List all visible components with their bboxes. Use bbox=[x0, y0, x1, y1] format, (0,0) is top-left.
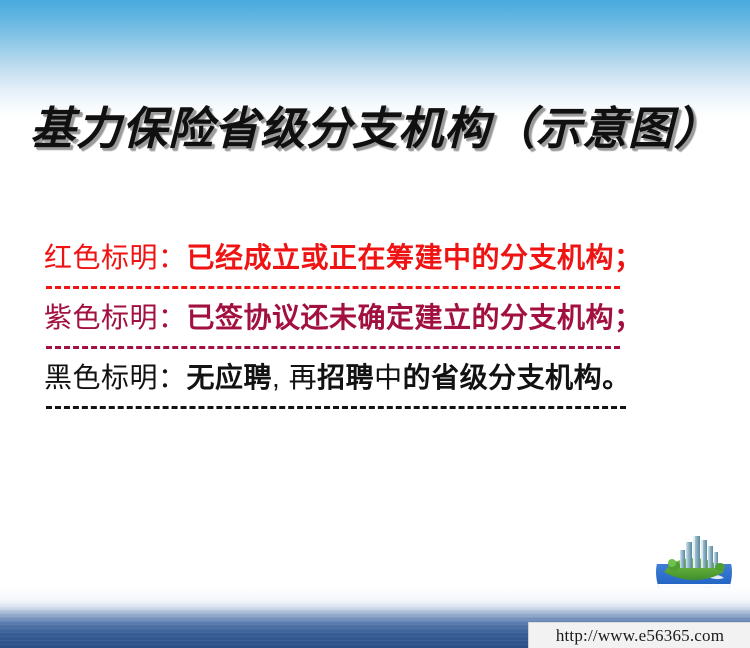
page-title: 基力保险省级分支机构（示意图） bbox=[0, 100, 750, 158]
legend-row-purple: 紫色标明：已签协议还未确定建立的分支机构； bbox=[44, 298, 704, 338]
legend-purple-value: 已签协议还未确定建立的分支机构； bbox=[187, 302, 643, 333]
legend-red-value: 已经成立或正在筹建中的分支机构； bbox=[187, 242, 643, 273]
legend-row-black: 黑色标明：无应聘, 再招聘中的省级分支机构。 bbox=[44, 358, 704, 398]
legend-red-text: 红色标明：已经成立或正在筹建中的分支机构； bbox=[44, 242, 643, 273]
divider-black bbox=[44, 398, 704, 418]
legend-purple-text: 紫色标明：已签协议还未确定建立的分支机构； bbox=[44, 302, 643, 333]
legend-black-value-5: 的省级分支机构。 bbox=[403, 362, 631, 393]
watermark-url-text: http://www.e56365.com bbox=[556, 626, 724, 646]
legend-black-value-4: 中 bbox=[374, 362, 403, 393]
divider-purple bbox=[44, 338, 704, 358]
watermark-url-bar[interactable]: http://www.e56365.com bbox=[528, 622, 750, 648]
slide-canvas: 基力保险省级分支机构（示意图） 红色标明：已经成立或正在筹建中的分支机构； 紫色… bbox=[0, 0, 750, 648]
legend-black-label: 黑色标明： bbox=[44, 362, 187, 393]
legend-black-value-1: 无应聘 bbox=[187, 362, 273, 393]
legend-black-text: 黑色标明：无应聘, 再招聘中的省级分支机构。 bbox=[44, 362, 631, 393]
divider-red bbox=[44, 278, 704, 298]
legend-red-label: 红色标明： bbox=[44, 242, 187, 273]
legend-row-red: 红色标明：已经成立或正在筹建中的分支机构； bbox=[44, 238, 704, 278]
legend-block: 红色标明：已经成立或正在筹建中的分支机构； 紫色标明：已签协议还未确定建立的分支… bbox=[44, 238, 704, 418]
legend-black-value-3: 招聘 bbox=[317, 362, 374, 393]
legend-black-value-2: , 再 bbox=[272, 362, 317, 393]
sea-horizon-haze bbox=[0, 588, 750, 614]
legend-purple-label: 紫色标明： bbox=[44, 302, 187, 333]
